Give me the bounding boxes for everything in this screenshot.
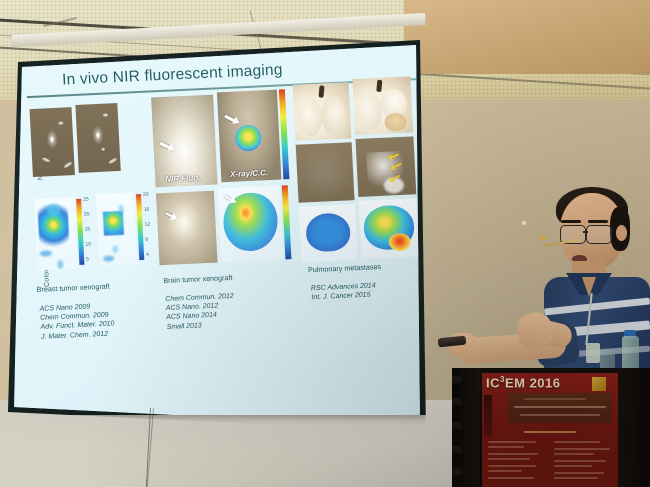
nir-panel-lung-control [296,142,355,203]
projection-screen: In vivo NIR fluorescent imaging NIR fluo… [8,40,428,415]
cc-panel-breast-1 [34,197,78,271]
screen-surface: In vivo NIR fluorescent imaging NIR fluo… [8,40,428,415]
name-badge [586,343,600,363]
nir-panel-lung-tumor [355,136,416,197]
nir-panel-breast-2 [75,103,120,173]
banner-title-rest: EM 2016 [505,375,561,390]
glasses-bridge [583,231,588,233]
banner-title-main: IC [486,375,500,390]
podium-notch [452,422,461,429]
cc-panel-breast-2 [96,192,138,266]
banner-sidebar [484,395,492,437]
xray-panel-brain: X-ray/C.C. [217,90,281,183]
annotation-arrow [160,142,174,150]
nir-panel-brain: NIR Fluo. [151,95,217,188]
podium-notch [452,376,461,383]
photo-panel-lung-tumor [352,76,413,135]
speaker [440,185,650,395]
glasses-icon [586,225,612,244]
panel-label-nir-fluo: NIR Fluo. [165,173,201,184]
eyebrow [588,220,608,223]
podium: IC3EM 2016 [452,368,650,487]
annotation-arrow [225,195,236,202]
ear [616,225,627,241]
podium-right-edge [618,368,650,487]
references-pulmonary: RSC Advances 2014 Int. J. Cancer 2015 [311,281,377,302]
photo-scene: In vivo NIR fluorescent imaging NIR fluo… [0,0,650,487]
podium-notch [452,446,461,453]
panel-label-xray-cc: X-ray/C.C. [230,168,269,179]
references-brain: Chem Commun. 2012 ACS Nano. 2012 ACS Nan… [165,292,235,332]
ceiling-right-section [404,0,650,74]
nir-panel-breast-1 [30,107,75,177]
conference-banner: IC3EM 2016 [482,373,618,487]
annotation-arrow [224,115,238,124]
eyebrow [561,220,581,223]
light-speck [522,221,526,225]
cc-panel-lung-control [299,204,358,263]
microphone-icon [540,235,546,241]
podium-notch [452,398,461,405]
references-breast: ACS Nano 2009 Chem Commun. 2009 Adv. Fun… [39,301,115,341]
annotation-arrow [165,212,176,219]
banner-subtitle-block [508,393,612,423]
banner-logo-icon [592,377,606,391]
cc-panel-brain-ex [218,186,284,263]
podium-notch [452,468,461,475]
cc-panel-lung-tumor [359,198,420,259]
photo-panel-lung-control [293,82,352,141]
nir-panel-brain-ex [156,191,218,266]
projected-slide: In vivo NIR fluorescent imaging NIR fluo… [8,40,428,415]
shirt-stripe [544,297,650,315]
